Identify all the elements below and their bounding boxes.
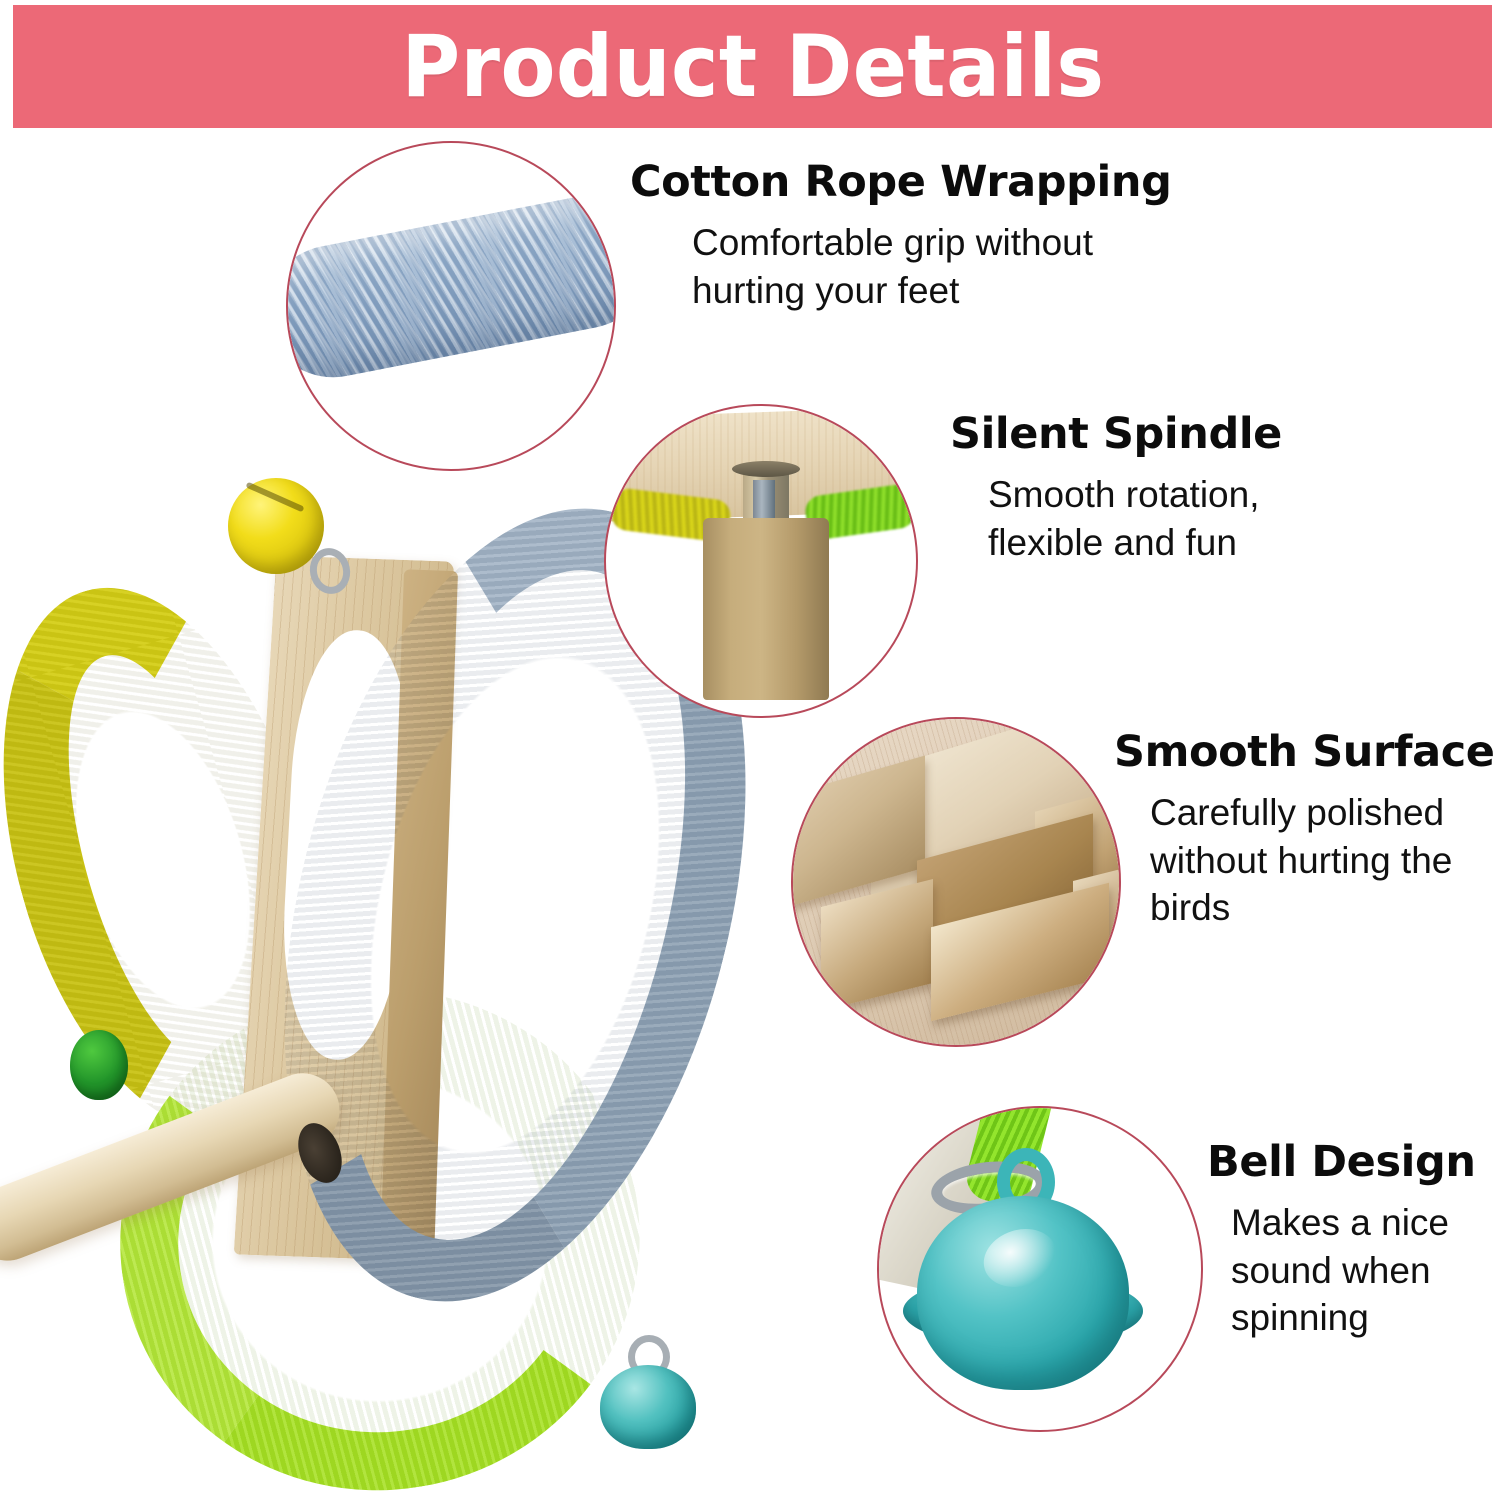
- feature-heading: Cotton Rope Wrapping: [630, 160, 1190, 205]
- feature-cotton-rope-wrapping: Cotton Rope Wrapping Comfortable grip wi…: [630, 160, 1190, 314]
- page-header-banner: Product Details: [13, 5, 1492, 128]
- feature-body: Smooth rotation, flexible and fun: [988, 471, 1370, 566]
- bell-design-inset-circle: [877, 1106, 1203, 1432]
- silent-spindle-inset-circle: [604, 404, 918, 718]
- bell-closeup-photo: [879, 1108, 1201, 1430]
- wood-blocks-closeup-photo: [793, 719, 1119, 1045]
- feature-heading: Smooth Surface: [1114, 730, 1500, 775]
- green-bell: [70, 1030, 128, 1100]
- teal-bell: [600, 1365, 696, 1449]
- feature-body: Comfortable grip without hurting your fe…: [692, 219, 1190, 314]
- bell-body: [917, 1196, 1129, 1390]
- spindle-closeup-photo: [606, 406, 916, 716]
- rope-closeup-photo: [288, 143, 614, 469]
- feature-body: Makes a nice sound when spinning: [1231, 1199, 1500, 1341]
- smooth-surface-inset-circle: [791, 717, 1121, 1047]
- feature-smooth-surface: Smooth Surface Carefully polished withou…: [1112, 730, 1500, 931]
- spindle-wood-tube: [703, 518, 829, 700]
- cotton-rope-inset-circle: [286, 141, 616, 471]
- feature-heading: Bell Design: [1207, 1140, 1500, 1185]
- spindle-cap: [732, 461, 800, 477]
- feature-heading: Silent Spindle: [950, 412, 1370, 457]
- blue-cotton-rope-bar: [288, 185, 614, 388]
- feature-body: Carefully polished without hurting the b…: [1150, 789, 1500, 931]
- feature-silent-spindle: Silent Spindle Smooth rotation, flexible…: [950, 412, 1370, 566]
- yellow-bell: [228, 478, 324, 574]
- page-title: Product Details: [401, 24, 1104, 110]
- product-details-page: Product Details Cotton Rope Wrapping Com…: [0, 0, 1500, 1494]
- feature-bell-design: Bell Design Makes a nice sound when spin…: [1207, 1140, 1500, 1341]
